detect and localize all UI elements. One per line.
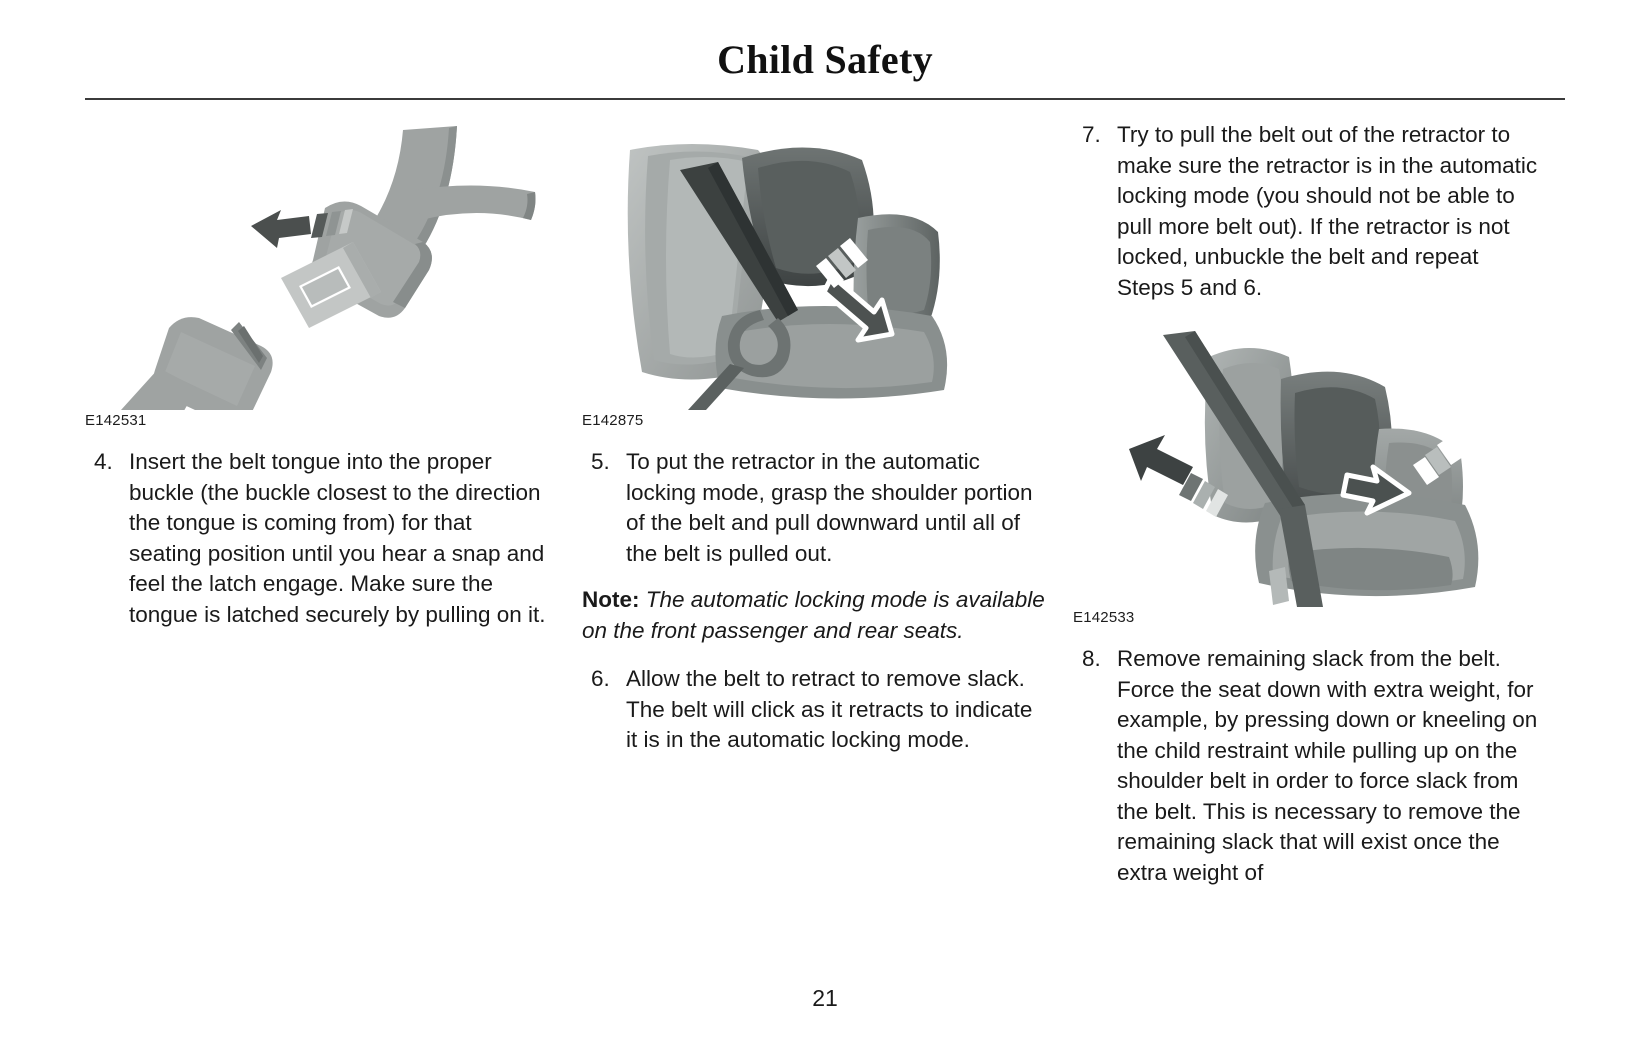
note-block: Note: The automatic locking mode is avai… — [582, 585, 1047, 646]
step-5-text: To put the retractor in the automatic lo… — [626, 447, 1047, 569]
column-left: E142531 4. Insert the belt tongue into t… — [85, 120, 550, 630]
step-6-number: 6. — [582, 664, 626, 756]
figure-child-seat-in-vehicle: E142533 — [1073, 317, 1538, 626]
child-seat-belt-pull-icon — [582, 120, 1047, 410]
step-5-number: 5. — [582, 447, 626, 569]
step-7-number: 7. — [1073, 120, 1117, 303]
step-7-text: Try to pull the belt out of the retracto… — [1117, 120, 1538, 303]
step-8: 8. Remove remaining slack from the belt.… — [1073, 644, 1538, 888]
page-header: Child Safety — [0, 0, 1650, 100]
figure-child-seat-shoulder-belt: E142875 — [582, 120, 1047, 429]
step-6-text: Allow the belt to retract to remove slac… — [626, 664, 1047, 756]
content-columns: E142531 4. Insert the belt tongue into t… — [85, 120, 1565, 920]
figure-caption-e142875: E142875 — [582, 412, 1047, 429]
column-middle: E142875 5. To put the retractor in the a… — [582, 120, 1047, 756]
child-restraint-in-vehicle-icon — [1073, 317, 1538, 607]
page-number: 21 — [0, 985, 1650, 1012]
step-5: 5. To put the retractor in the automatic… — [582, 447, 1047, 569]
figure-caption-e142531: E142531 — [85, 412, 550, 429]
step-4-number: 4. — [85, 447, 129, 630]
note-text: The automatic locking mode is available … — [582, 587, 1045, 643]
page-title: Child Safety — [0, 36, 1650, 83]
step-4: 4. Insert the belt tongue into the prope… — [85, 447, 550, 630]
seat-belt-buckle-icon — [85, 120, 550, 410]
step-4-text: Insert the belt tongue into the proper b… — [129, 447, 550, 630]
step-8-number: 8. — [1073, 644, 1117, 888]
header-divider — [85, 98, 1565, 100]
step-8-text: Remove remaining slack from the belt. Fo… — [1117, 644, 1538, 888]
column-right: 7. Try to pull the belt out of the retra… — [1073, 120, 1538, 888]
step-6: 6. Allow the belt to retract to remove s… — [582, 664, 1047, 756]
note-label: Note: — [582, 587, 640, 612]
figure-belt-buckle: E142531 — [85, 120, 550, 429]
figure-caption-e142533: E142533 — [1073, 609, 1538, 626]
step-7: 7. Try to pull the belt out of the retra… — [1073, 120, 1538, 303]
